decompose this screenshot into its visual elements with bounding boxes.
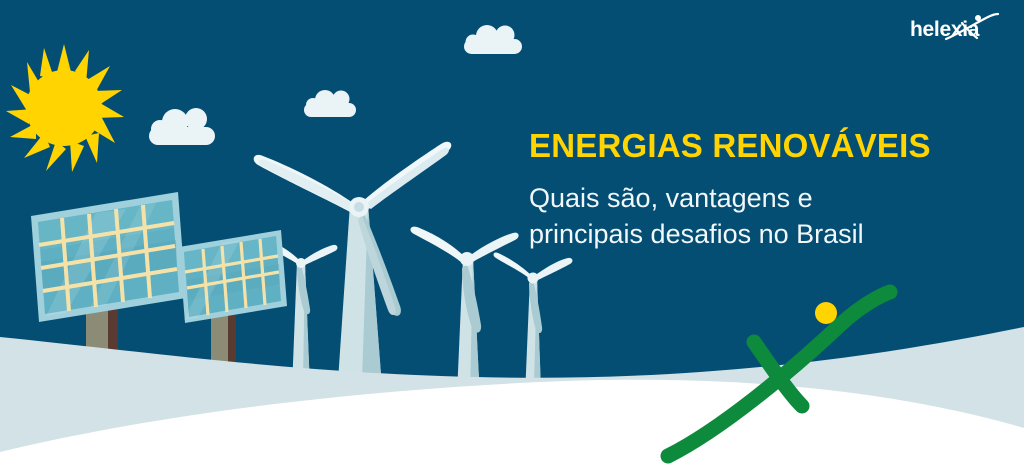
- page-subtitle-line-2: principais desafios no Brasil: [529, 216, 999, 252]
- page-subtitle: Quais são, vantagens e principais desafi…: [529, 180, 999, 252]
- text-block: ENERGIAS RENOVÁVEIS Quais são, vantagens…: [529, 129, 999, 252]
- brand-logo[interactable]: helexia: [910, 14, 1002, 48]
- brand-dot: [815, 302, 837, 324]
- renewable-energy-banner: ENERGIAS RENOVÁVEIS Quais são, vantagens…: [0, 0, 1024, 464]
- page-title: ENERGIAS RENOVÁVEIS: [529, 129, 999, 164]
- brand-logo-swoosh-icon: [944, 12, 1000, 42]
- page-subtitle-line-1: Quais são, vantagens e: [529, 180, 999, 216]
